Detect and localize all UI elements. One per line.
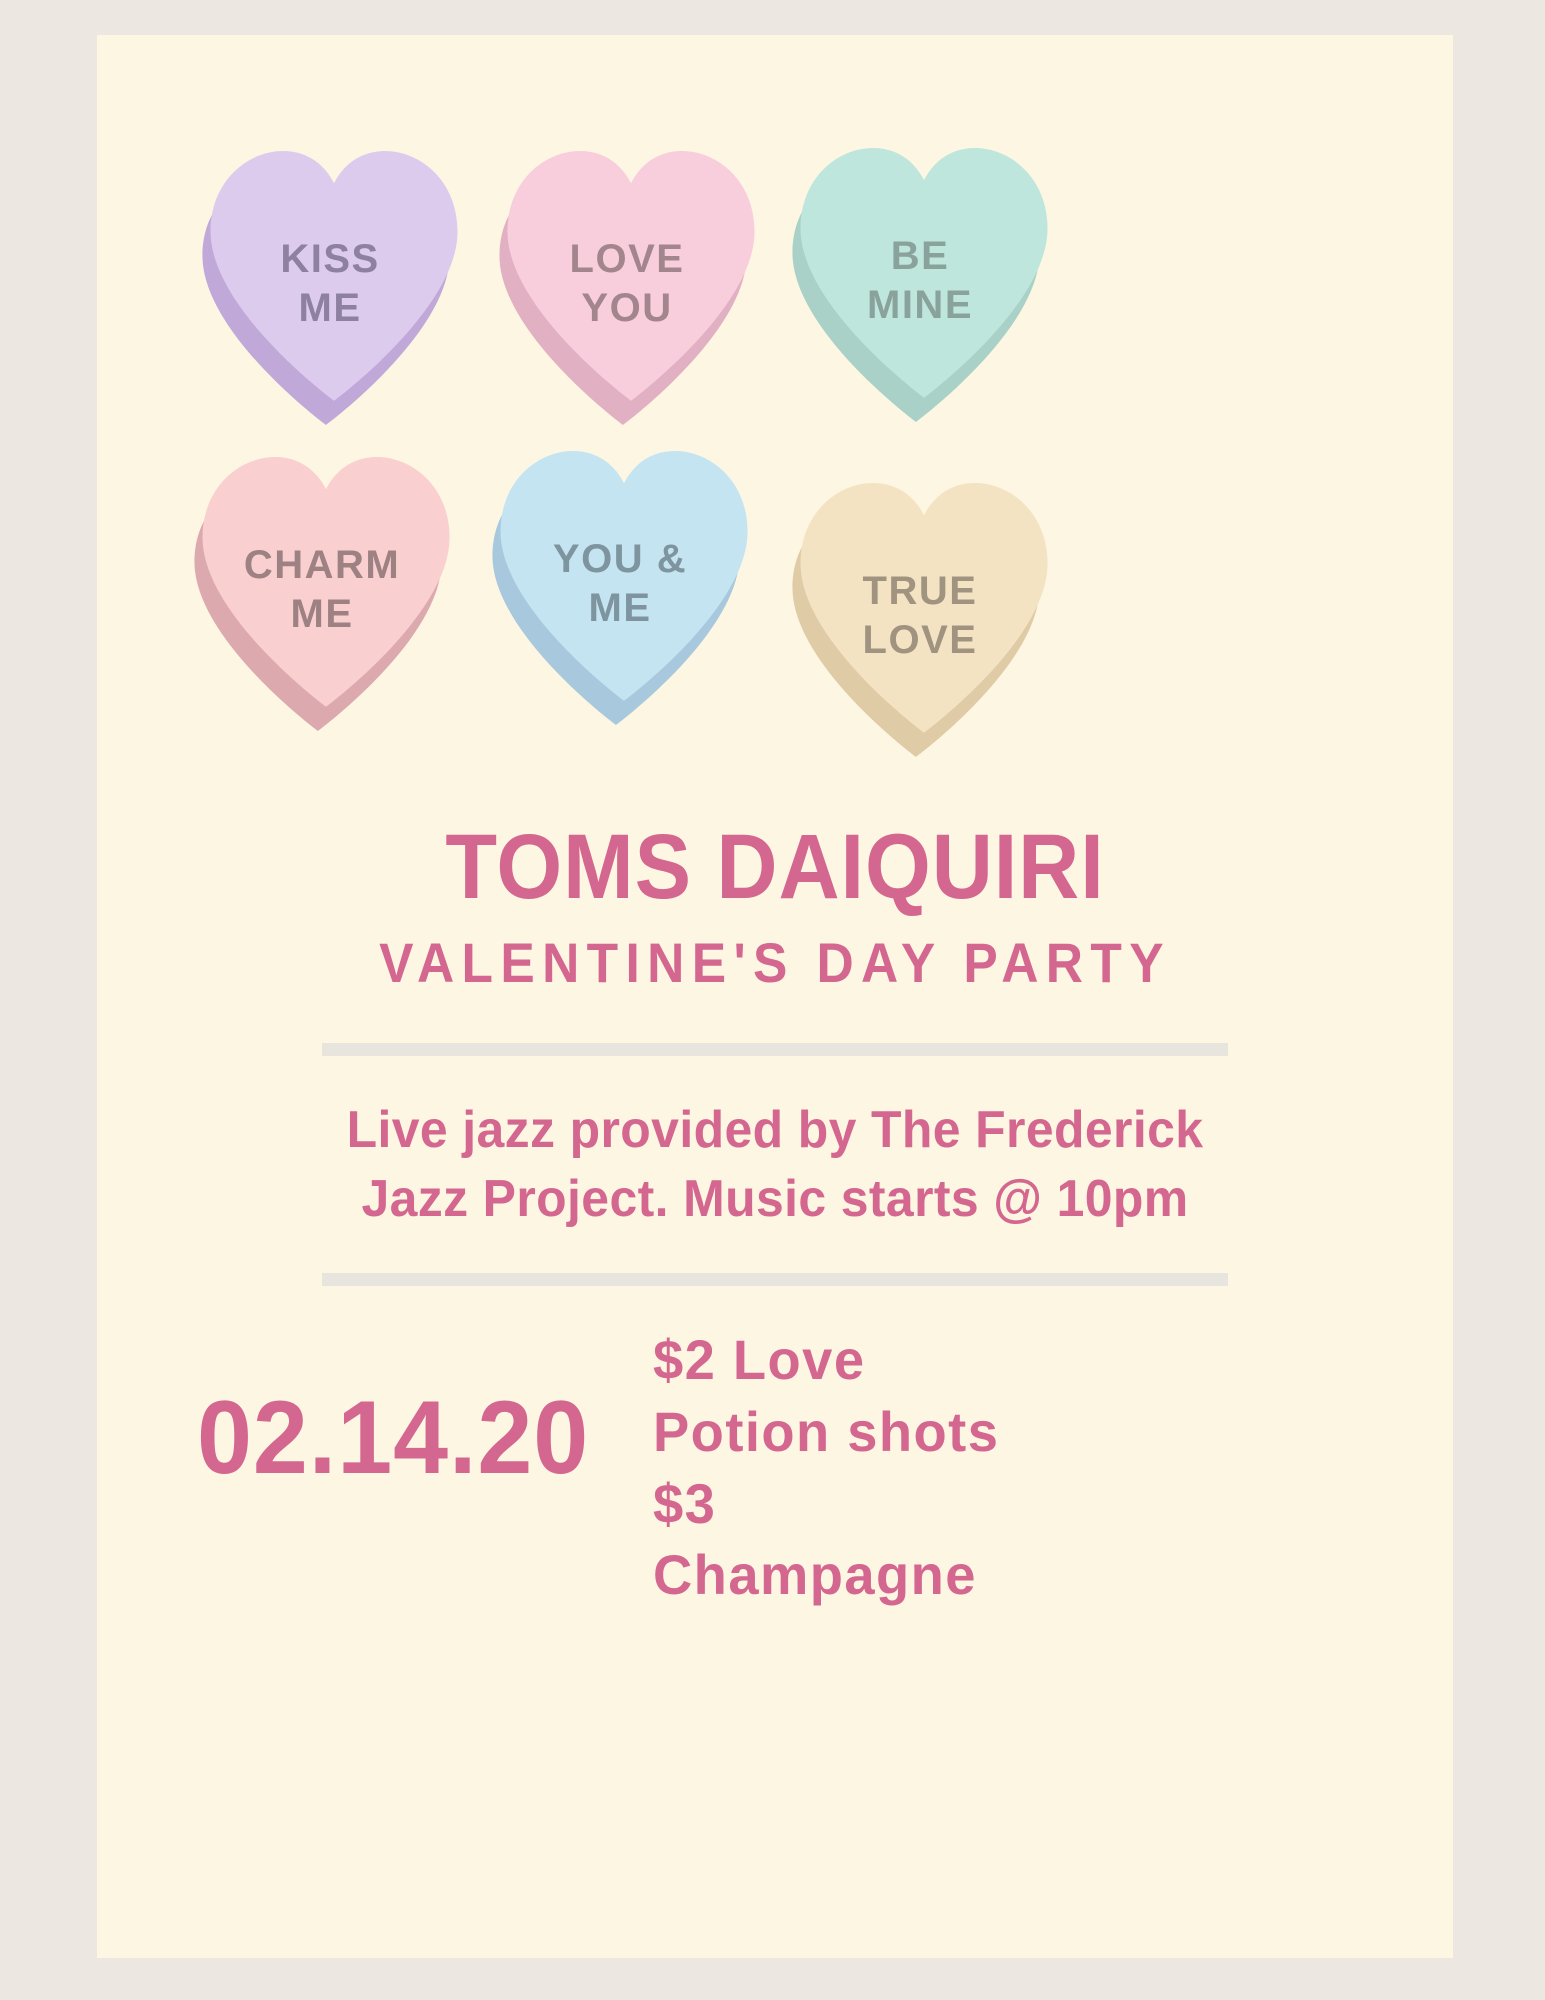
candy-heart: CHARM ME (177, 449, 467, 739)
page-subtitle: VALENTINE'S DAY PARTY (151, 935, 1399, 991)
heart-top-face (508, 151, 755, 401)
heart-icon (775, 475, 1065, 765)
poster-panel: KISS MELOVE YOUBE MINECHARM MEYOU & METR… (97, 35, 1453, 1958)
heart-icon (177, 449, 467, 739)
poster-text-block: TOMS DAIQUIRI VALENTINE'S DAY PARTY Live… (97, 735, 1453, 1654)
heart-top-face (801, 148, 1048, 398)
event-description: Live jazz provided by The Frederick Jazz… (124, 1096, 1426, 1233)
poster-root: KISS MELOVE YOUBE MINECHARM MEYOU & METR… (0, 0, 1545, 2000)
divider-bottom (322, 1273, 1228, 1286)
heart-icon (475, 443, 765, 733)
candy-heart: BE MINE (775, 140, 1065, 430)
candy-heart: KISS ME (185, 143, 475, 433)
heart-icon (482, 143, 772, 433)
heart-top-face (203, 457, 450, 707)
heart-icon (775, 140, 1065, 430)
drink-specials: $2 Love Potion shots $3 Champagne (653, 1324, 1099, 1611)
divider-top (322, 1043, 1228, 1056)
heart-icon (185, 143, 475, 433)
page-title: TOMS DAIQUIRI (151, 821, 1399, 913)
heart-top-face (801, 483, 1048, 733)
candy-heart: YOU & ME (475, 443, 765, 733)
event-date: 02.14.20 (197, 1386, 589, 1490)
bottom-details-row: 02.14.20 $2 Love Potion shots $3 Champag… (97, 1324, 1453, 1654)
candy-hearts-grid: KISS MELOVE YOUBE MINECHARM MEYOU & METR… (97, 35, 1453, 735)
candy-heart: LOVE YOU (482, 143, 772, 433)
candy-heart: TRUE LOVE (775, 475, 1065, 765)
heart-top-face (211, 151, 458, 401)
heart-top-face (501, 451, 748, 701)
